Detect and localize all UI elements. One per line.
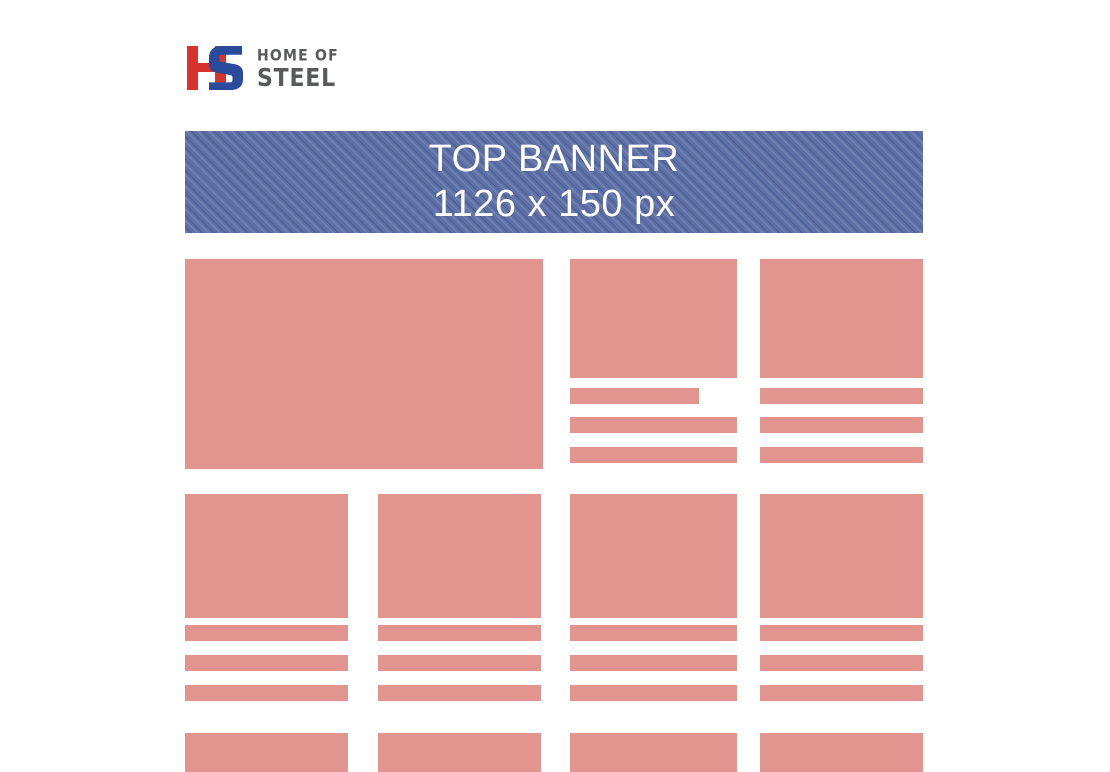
article-card-r2c2-line-2 [378, 655, 541, 671]
page-root: HOME OF STEEL TOP BANNER 1126 x 150 px [0, 0, 1110, 772]
home-of-steel-logo[interactable]: HOME OF STEEL [185, 38, 505, 98]
top-banner-title: TOP BANNER [429, 137, 680, 182]
content-grid [0, 0, 1110, 772]
article-card-r2c4-line-3 [760, 685, 923, 701]
article-card-r2c3-line-1 [570, 625, 737, 641]
top-banner-placeholder[interactable]: TOP BANNER 1126 x 150 px [185, 131, 923, 233]
article-card-r2c2-line-1 [378, 625, 541, 641]
article-card-r3c2-image[interactable] [378, 733, 541, 772]
top-banner-dimensions: 1126 x 150 px [433, 182, 675, 227]
article-card-r2c2-line-3 [378, 685, 541, 701]
logo-wordmark: HOME OF STEEL [257, 48, 339, 89]
article-card-r2c2-image[interactable] [378, 494, 541, 618]
article-card-r2c3-image[interactable] [570, 494, 737, 618]
logo-line-steel: STEEL [257, 67, 339, 92]
article-card-r2c4-line-1 [760, 625, 923, 641]
article-card-col4-line-1 [760, 388, 923, 404]
hero-image-placeholder[interactable] [185, 259, 543, 469]
article-card-r3c3-image[interactable] [570, 733, 737, 772]
article-card-r2c1-line-3 [185, 685, 348, 701]
article-card-r2c4-image[interactable] [760, 494, 923, 618]
article-card-r2c3-line-2 [570, 655, 737, 671]
logo-line-home-of: HOME OF [257, 48, 339, 64]
hs-monogram-icon [185, 42, 247, 94]
article-card-r2c3-line-3 [570, 685, 737, 701]
article-card-col3-line-3 [570, 447, 737, 463]
article-card-col3-line-1 [570, 388, 699, 404]
article-card-col4-image[interactable] [760, 259, 923, 378]
article-card-r2c4-line-2 [760, 655, 923, 671]
article-card-col4-line-3 [760, 447, 923, 463]
article-card-r2c1-image[interactable] [185, 494, 348, 618]
article-card-col3-line-2 [570, 417, 737, 433]
article-card-r3c1-image[interactable] [185, 733, 348, 772]
article-card-col3-image[interactable] [570, 259, 737, 378]
article-card-r2c1-line-2 [185, 655, 348, 671]
article-card-r2c1-line-1 [185, 625, 348, 641]
article-card-col4-line-2 [760, 417, 923, 433]
article-card-r3c4-image[interactable] [760, 733, 923, 772]
